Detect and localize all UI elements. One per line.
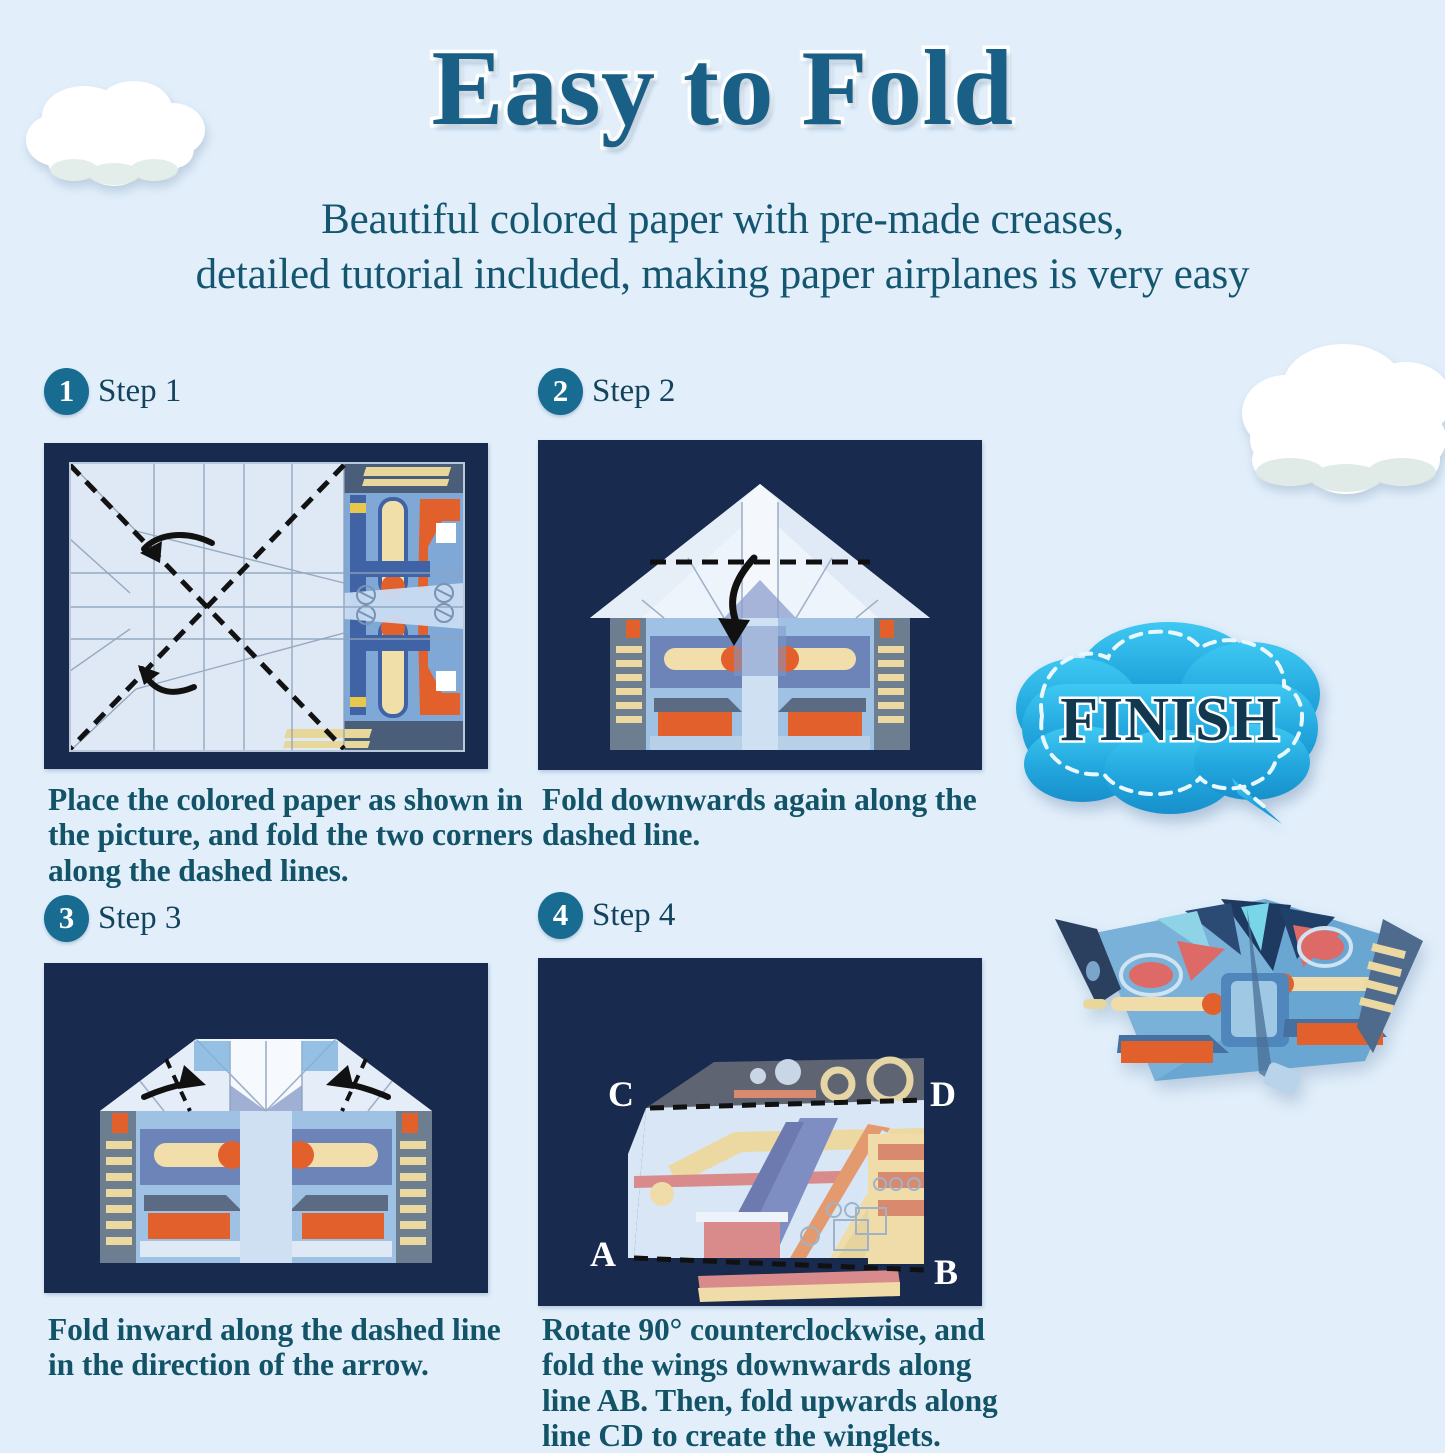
step-2-diagram — [538, 440, 982, 770]
step-3-label: Step 3 — [98, 900, 181, 937]
cloud-icon — [1238, 338, 1445, 503]
subtitle-line-1: Beautiful colored paper with pre-made cr… — [0, 192, 1445, 247]
step-3-header: 3 Step 3 — [44, 895, 181, 942]
caption-line: fold the wings downwards along — [542, 1347, 1012, 1382]
step-1-caption: Place the colored paper as shown in the … — [48, 782, 498, 888]
caption-line: Rotate 90° counterclockwise, and — [542, 1312, 1012, 1347]
caption-line: along the dashed lines. — [48, 853, 498, 888]
marker-d: D — [930, 1074, 956, 1114]
step-4-label: Step 4 — [592, 897, 675, 934]
step-3-diagram — [44, 963, 488, 1293]
finished-plane-image — [1035, 885, 1435, 1115]
step-2-header: 2 Step 2 — [538, 368, 675, 415]
step-4-diagram: C D A B — [538, 958, 982, 1306]
step-4-header: 4 Step 4 — [538, 892, 675, 939]
finish-label: FINISH — [1000, 685, 1340, 756]
marker-a: A — [590, 1234, 616, 1274]
marker-b: B — [934, 1252, 958, 1292]
caption-line: the picture, and fold the two corners — [48, 817, 498, 852]
finish-badge: FINISH — [1000, 612, 1340, 857]
step-1-header: 1 Step 1 — [44, 368, 181, 415]
step-1-diagram — [44, 443, 488, 769]
page-title: Easy to Fold — [0, 34, 1445, 144]
subtitle-line-2: detailed tutorial included, making paper… — [0, 247, 1445, 302]
caption-line: in the direction of the arrow. — [48, 1347, 508, 1382]
caption-line: Place the colored paper as shown in — [48, 782, 498, 817]
caption-line: line CD to create the winglets. — [542, 1418, 1012, 1453]
caption-line: line AB. Then, fold upwards along — [542, 1383, 1012, 1418]
marker-c: C — [608, 1074, 634, 1114]
step-1-badge: 1 — [44, 368, 89, 415]
caption-line: Fold inward along the dashed line — [48, 1312, 508, 1347]
step-2-badge: 2 — [538, 368, 583, 415]
step-2-caption: Fold downwards again along the dashed li… — [542, 782, 992, 853]
step-4-badge: 4 — [538, 892, 583, 939]
step-1-label: Step 1 — [98, 373, 181, 410]
step-2-label: Step 2 — [592, 373, 675, 410]
page-subtitle: Beautiful colored paper with pre-made cr… — [0, 192, 1445, 302]
step-4-caption: Rotate 90° counterclockwise, and fold th… — [542, 1312, 1012, 1453]
caption-line: dashed line. — [542, 817, 992, 852]
step-3-badge: 3 — [44, 895, 89, 942]
caption-line: Fold downwards again along the — [542, 782, 992, 817]
step-3-caption: Fold inward along the dashed line in the… — [48, 1312, 508, 1383]
poster-canvas: Easy to Fold Beautiful colored paper wit… — [0, 0, 1445, 1445]
